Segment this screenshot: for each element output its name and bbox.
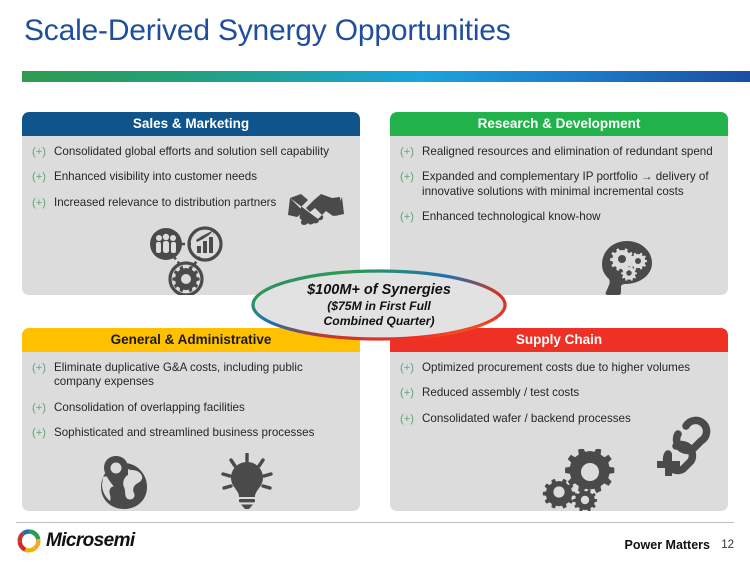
plus-marker: (+) (32, 401, 46, 415)
list-item-label: Eliminate duplicative G&A costs, includi… (54, 361, 303, 388)
quadrant-header-sales: Sales & Marketing (22, 112, 360, 136)
plus-marker: (+) (400, 170, 414, 184)
synergy-headline: $100M+ of Synergies (307, 282, 451, 298)
quadrant-header-rd: Research & Development (390, 112, 728, 136)
page-title: Scale-Derived Synergy Opportunities (24, 14, 511, 48)
plus-marker: (+) (400, 361, 414, 375)
list-item: (+) Expanded and complementary IP portfo… (400, 170, 718, 199)
list-item: (+) Enhanced visibility into customer ne… (32, 170, 350, 184)
plus-marker: (+) (400, 145, 414, 159)
synergy-subline-2: Combined Quarter) (323, 314, 434, 328)
page-number: 12 (721, 539, 734, 551)
list-item: (+) Realigned resources and elimination … (400, 145, 718, 159)
list-item-label: Expanded and complementary IP portfolio … (422, 170, 709, 197)
list-item-label: Increased relevance to distribution part… (54, 196, 276, 209)
list-item: (+) Reduced assembly / test costs (400, 386, 718, 400)
list-item-label: Sophisticated and streamlined business p… (54, 426, 314, 439)
plus-marker: (+) (32, 361, 46, 375)
footer-tagline: Power Matters (625, 538, 710, 552)
quadrant-body-ga: (+) Eliminate duplicative G&A costs, inc… (22, 352, 360, 511)
handshake-icon (288, 188, 344, 228)
list-item: (+) Eliminate duplicative G&A costs, inc… (32, 361, 350, 390)
microsemi-swirl-icon (16, 529, 42, 553)
plus-marker: (+) (32, 426, 46, 440)
plus-marker: (+) (400, 210, 414, 224)
plus-marker: (+) (32, 170, 46, 184)
network-circles-icon (146, 223, 224, 295)
synergy-subline-1: ($75M in First Full (327, 299, 431, 313)
quadrant-supply-chain: Supply Chain (+) Optimized procurement c… (390, 328, 728, 511)
list-item-label: Consolidated global efforts and solution… (54, 145, 329, 158)
plus-marker: (+) (400, 412, 414, 426)
footer-divider (16, 522, 734, 523)
quadrant-research-development: Research & Development (+) Realigned res… (390, 112, 728, 295)
synergy-text-block: $100M+ of Synergies ($75M in First Full … (250, 269, 508, 341)
chain-link-plus-icon (650, 416, 712, 482)
list-item-label: Consolidation of overlapping facilities (54, 401, 245, 414)
quadrant-sales-marketing: Sales & Marketing (+) Consolidated globa… (22, 112, 360, 295)
microsemi-logo: Microsemi (16, 529, 135, 553)
plus-marker: (+) (400, 386, 414, 400)
quadrant-general-administrative: General & Administrative (+) Eliminate d… (22, 328, 360, 511)
head-gears-icon (596, 237, 658, 295)
list-item-label: Optimized procurement costs due to highe… (422, 361, 690, 374)
quadrant-body-supply: (+) Optimized procurement costs due to h… (390, 352, 728, 511)
plus-marker: (+) (32, 145, 46, 159)
list-item-label: Enhanced visibility into customer needs (54, 170, 257, 183)
list-item: (+) Enhanced technological know-how (400, 210, 718, 224)
lightbulb-icon (218, 453, 276, 509)
list-item: (+) Optimized procurement costs due to h… (400, 361, 718, 375)
list-item-label: Consolidated wafer / backend processes (422, 412, 631, 425)
list-item: (+) Consolidation of overlapping facilit… (32, 401, 350, 415)
list-item: (+) Sophisticated and streamlined busine… (32, 426, 350, 440)
list-item: (+) Consolidated global efforts and solu… (32, 145, 350, 159)
plus-marker: (+) (32, 196, 46, 210)
microsemi-wordmark: Microsemi (46, 530, 135, 552)
list-item-label: Reduced assembly / test costs (422, 386, 579, 399)
globe-location-icon (94, 455, 154, 511)
list-item-label: Enhanced technological know-how (422, 210, 601, 223)
list-item-label: Realigned resources and elimination of r… (422, 145, 713, 158)
title-gradient-rule (22, 71, 750, 82)
gears-icon (540, 449, 632, 511)
synergy-callout: $100M+ of Synergies ($75M in First Full … (250, 269, 508, 341)
